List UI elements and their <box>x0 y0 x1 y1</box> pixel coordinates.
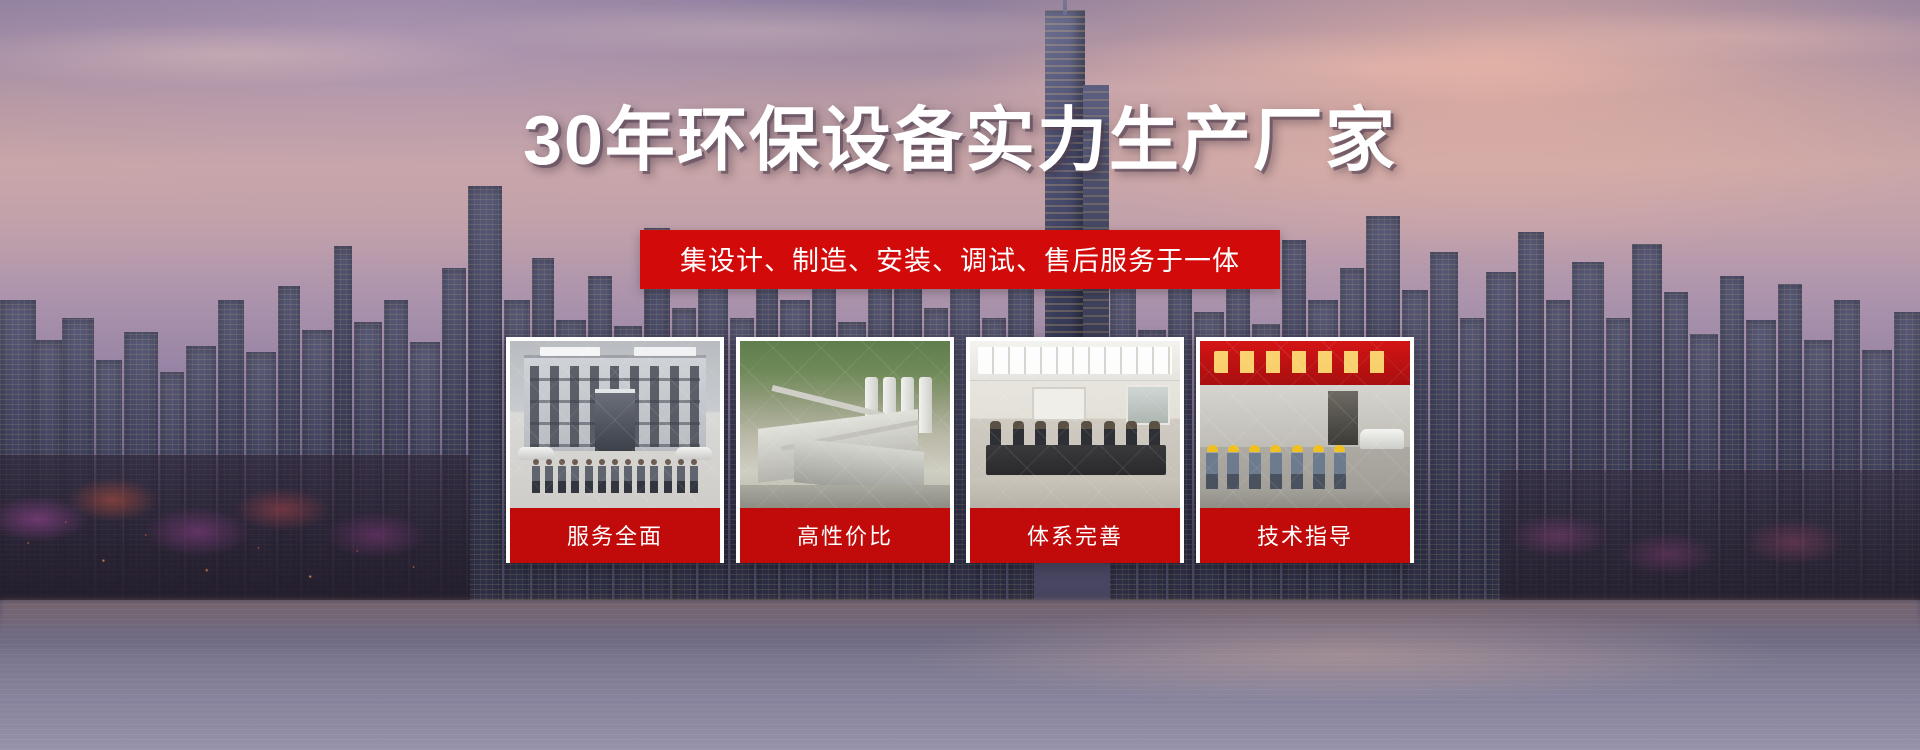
feature-card-row: 服务全面 高性价比 体系 <box>0 337 1920 563</box>
card-photo-service <box>510 341 720 508</box>
card-caption: 服务全面 <box>510 508 720 563</box>
card-photo-plant <box>740 341 950 508</box>
subtitle-bar-wrapper: 集设计、制造、安装、调试、售后服务于一体 <box>0 230 1920 289</box>
feature-card[interactable]: 体系完善 <box>966 337 1184 563</box>
card-caption: 高性价比 <box>740 508 950 563</box>
river-water <box>0 600 1920 750</box>
banner-headline: 30年环保设备实力生产厂家 <box>0 102 1920 179</box>
feature-card[interactable]: 服务全面 <box>506 337 724 563</box>
feature-card[interactable]: 技术指导 <box>1196 337 1414 563</box>
water-ripples <box>0 600 1920 750</box>
hero-banner: 30年环保设备实力生产厂家 集设计、制造、安装、调试、售后服务于一体 <box>0 0 1920 750</box>
banner-subtitle: 集设计、制造、安装、调试、售后服务于一体 <box>640 230 1280 289</box>
feature-card[interactable]: 高性价比 <box>736 337 954 563</box>
card-photo-training <box>1200 341 1410 508</box>
card-caption: 体系完善 <box>970 508 1180 563</box>
card-photo-office <box>970 341 1180 508</box>
card-caption: 技术指导 <box>1200 508 1410 563</box>
